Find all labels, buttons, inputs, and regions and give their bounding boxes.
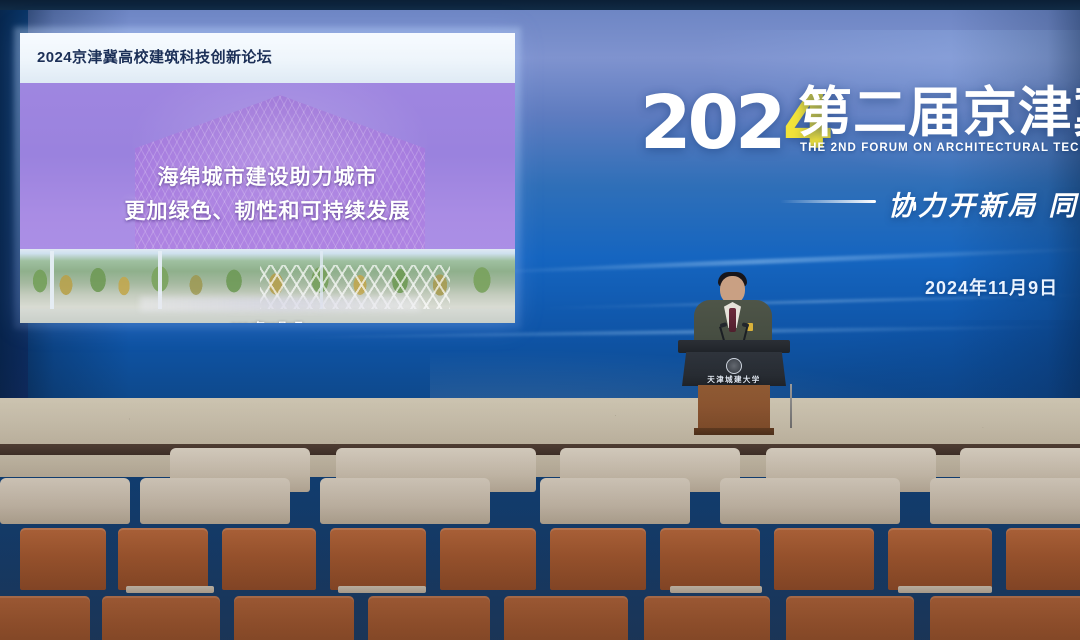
banner-date: 2024年11月9日 — [925, 274, 1058, 300]
speaker-necktie — [729, 308, 736, 332]
seat-wood-n6 — [644, 596, 770, 640]
university-seal-icon — [726, 358, 742, 374]
slide-header-title: 2024京津冀高校建筑科技创新论坛 — [37, 46, 272, 67]
slide-title-line1: 海绵城市建设助力城市 — [20, 161, 515, 195]
seat-desk-1 — [126, 586, 214, 593]
seat-wood-6 — [550, 528, 646, 590]
slide-campus-photo-strip — [20, 249, 515, 323]
conference-photo: 2024 第二届京津冀高 THE 2ND FORUM ON ARCHITECTU… — [0, 0, 1080, 640]
seat-desk-4 — [898, 586, 992, 593]
seat-pale-m3 — [320, 478, 490, 524]
seat-wood-7 — [660, 528, 760, 590]
seat-wood-9 — [888, 528, 992, 590]
seat-wood-n5 — [504, 596, 628, 640]
seat-pale-m5 — [720, 478, 900, 524]
seat-pale-m4 — [540, 478, 690, 524]
seat-pale-m6 — [930, 478, 1080, 524]
slide-blurred-text-bar — [140, 297, 420, 311]
banner-tagline: 协力开新局 同 — [888, 184, 1079, 223]
seat-wood-5 — [440, 528, 536, 590]
seat-wood-3 — [222, 528, 316, 590]
slide-title: 海绵城市建设助力城市 更加绿色、韧性和可持续发展 — [20, 161, 515, 229]
seat-desk-3 — [670, 586, 762, 593]
banner-title-en: THE 2ND FORUM ON ARCHITECTURAL TECHNOLOG… — [800, 142, 1080, 154]
slide-body: 海绵城市建设助力城市 更加绿色、韧性和可持续发展 李俊奇 北京建筑大学 城市雨水… — [20, 83, 515, 323]
banner-title-cn: 第二届京津冀高 — [798, 84, 1080, 142]
seat-wood-10 — [1006, 528, 1080, 590]
seat-wood-2 — [118, 528, 208, 590]
seat-wood-n3 — [234, 596, 354, 640]
seat-wood-n1 — [0, 596, 90, 640]
slide-title-line2: 更加绿色、韧性和可持续发展 — [20, 195, 515, 229]
seat-pale-m1 — [0, 478, 130, 524]
seat-wood-n2 — [102, 596, 220, 640]
slide-date: 2024年11月9日 — [20, 318, 515, 323]
seat-wood-n4 — [368, 596, 490, 640]
podium-top-surface — [678, 340, 790, 353]
seat-wood-4 — [330, 528, 426, 590]
seat-wood-n8 — [930, 596, 1080, 640]
slide-header: 2024京津冀高校建筑科技创新论坛 — [20, 33, 515, 83]
seat-desk-2 — [338, 586, 426, 593]
seat-pale-m2 — [140, 478, 290, 524]
projected-slide: 海绵城市建设助力城市 更加绿色、韧性和可持续发展 李俊奇 北京建筑大学 城市雨水… — [20, 33, 515, 323]
podium-institution-label: 天津城建大学 — [672, 374, 796, 385]
seat-wood-8 — [774, 528, 874, 590]
seat-wood-n7 — [786, 596, 914, 640]
banner-tagline-rule — [780, 200, 876, 203]
seat-wood-1 — [20, 528, 106, 590]
audience-area — [0, 400, 1080, 640]
banner-year-prefix: 202 — [640, 80, 782, 166]
